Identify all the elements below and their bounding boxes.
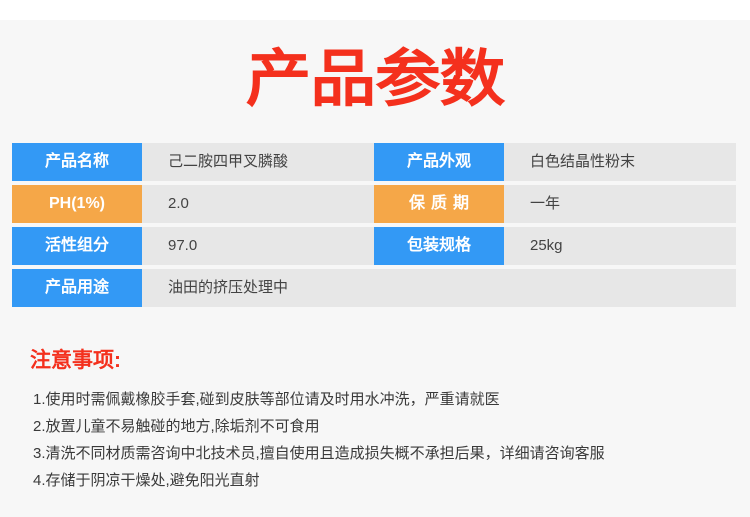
spec-cell-left: 产品用途 油田的挤压处理中 <box>12 269 374 307</box>
spec-cell-right: 包装规格 25kg <box>374 227 736 265</box>
notes-heading: 注意事项: <box>30 348 730 374</box>
spec-label: 活性组分 <box>12 227 142 265</box>
spec-value: 一年 <box>504 185 736 223</box>
spec-cell-left: PH(1%) 2.0 <box>12 185 374 223</box>
spec-label: 产品外观 <box>374 143 504 181</box>
spec-value: 己二胺四甲叉膦酸 <box>142 143 374 181</box>
spec-cell-left: 产品名称 己二胺四甲叉膦酸 <box>12 143 374 181</box>
spec-label: 包装规格 <box>374 227 504 265</box>
spec-cell-right: 保质期 一年 <box>374 185 736 223</box>
note-item: 2.放置儿童不易触碰的地方,除垢剂不可食用 <box>30 413 730 440</box>
table-row: 产品名称 己二胺四甲叉膦酸 产品外观 白色结晶性粉末 <box>12 143 736 181</box>
spec-label: PH(1%) <box>12 185 142 223</box>
note-item: 3.清洗不同材质需咨询中北技术员,擅自使用且造成损失概不承担后果，详细请咨询客服 <box>30 440 730 467</box>
spec-value: 油田的挤压处理中 <box>142 269 374 307</box>
table-row: PH(1%) 2.0 保质期 一年 <box>12 185 736 223</box>
note-item: 1.使用时需佩戴橡胶手套,碰到皮肤等部位请及时用水冲洗，严重请就医 <box>30 386 730 413</box>
table-row: 产品用途 油田的挤压处理中 <box>12 269 736 307</box>
spec-cell-right-empty <box>374 269 736 307</box>
spec-cell-right: 产品外观 白色结晶性粉末 <box>374 143 736 181</box>
spec-table: 产品名称 己二胺四甲叉膦酸 产品外观 白色结晶性粉末 PH(1%) 2.0 保质… <box>12 143 736 311</box>
spec-label: 保质期 <box>374 185 504 223</box>
spec-value: 97.0 <box>142 227 374 265</box>
page-title: 产品参数 <box>0 44 750 114</box>
note-item: 4.存储于阴凉干燥处,避免阳光直射 <box>30 467 730 494</box>
spec-value: 25kg <box>504 227 736 265</box>
table-row: 活性组分 97.0 包装规格 25kg <box>12 227 736 265</box>
spec-value: 2.0 <box>142 185 374 223</box>
notes-section: 注意事项: 1.使用时需佩戴橡胶手套,碰到皮肤等部位请及时用水冲洗，严重请就医 … <box>30 348 730 494</box>
spec-value: 白色结晶性粉末 <box>504 143 736 181</box>
spec-cell-left: 活性组分 97.0 <box>12 227 374 265</box>
product-spec-page: 产品参数 产品名称 己二胺四甲叉膦酸 产品外观 白色结晶性粉末 PH(1%) 2… <box>0 0 750 517</box>
spec-label: 产品名称 <box>12 143 142 181</box>
spec-label: 产品用途 <box>12 269 142 307</box>
